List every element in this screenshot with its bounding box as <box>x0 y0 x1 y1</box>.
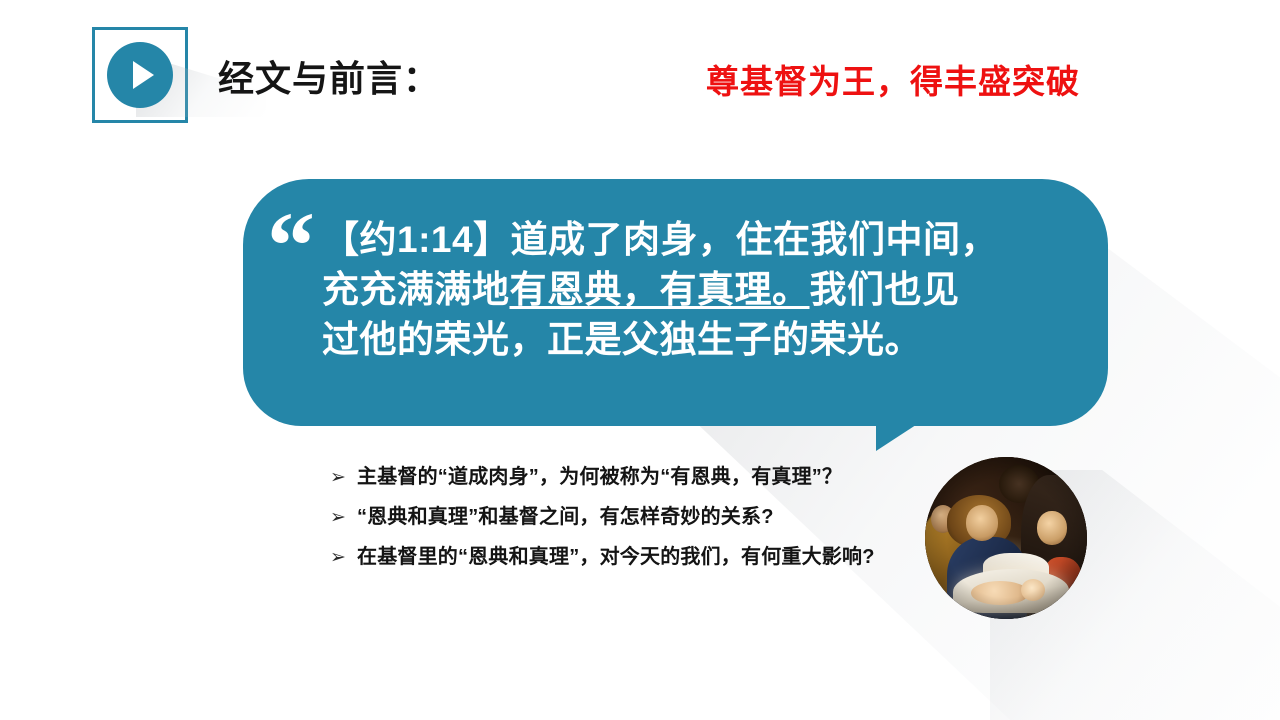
arrow-bullet-icon: ➢ <box>330 504 357 530</box>
quote-line-2-pre: 充充满满地 <box>322 269 510 310</box>
nativity-painting <box>925 457 1087 619</box>
page-title: 经文与前言： <box>218 50 440 102</box>
arrow-bullet-icon: ➢ <box>330 544 357 570</box>
painting-vignette <box>925 457 1087 619</box>
quote-text: 【约1:14】道成了肉身，住在我们中间， 充充满满地有恩典，有真理。我们也见 过… <box>322 215 1082 365</box>
play-button-icon <box>92 27 188 123</box>
quote-line-2-underlined: 有恩典，有真理。 <box>510 269 810 310</box>
list-item: ➢ 在基督里的“恩典和真理”，对今天的我们，有何重大影响? <box>330 544 900 571</box>
play-triangle-icon <box>133 61 154 89</box>
quote-line-2: 充充满满地有恩典，有真理。我们也见 <box>322 265 1082 315</box>
question-list: ➢ 主基督的“道成肉身”，为何被称为“有恩典，有真理”？ ➢ “恩典和真理”和基… <box>330 464 900 584</box>
quote-line-2-post: 我们也见 <box>810 269 960 310</box>
list-item: ➢ 主基督的“道成肉身”，为何被称为“有恩典，有真理”？ <box>330 464 900 491</box>
nativity-image <box>925 457 1087 619</box>
quote-line-3: 过他的荣光，正是父独生子的荣光。 <box>322 315 1082 365</box>
list-item-text: “恩典和真理”和基督之间，有怎样奇妙的关系? <box>357 504 774 531</box>
quote-mark-icon: “ <box>267 198 311 294</box>
list-item-text: 主基督的“道成肉身”，为何被称为“有恩典，有真理”？ <box>357 464 842 491</box>
quote-bubble-tail <box>876 421 922 451</box>
list-item: ➢ “恩典和真理”和基督之间，有怎样奇妙的关系? <box>330 504 900 531</box>
quote-line-1: 【约1:14】道成了肉身，住在我们中间， <box>322 215 1082 265</box>
list-item-text: 在基督里的“恩典和真理”，对今天的我们，有何重大影响? <box>357 544 875 571</box>
arrow-bullet-icon: ➢ <box>330 464 357 490</box>
page-subtitle-accent: 尊基督为王，得丰盛突破 <box>706 55 1080 103</box>
slide-canvas: 经文与前言： 尊基督为王，得丰盛突破 “ 【约1:14】道成了肉身，住在我们中间… <box>0 0 1280 720</box>
